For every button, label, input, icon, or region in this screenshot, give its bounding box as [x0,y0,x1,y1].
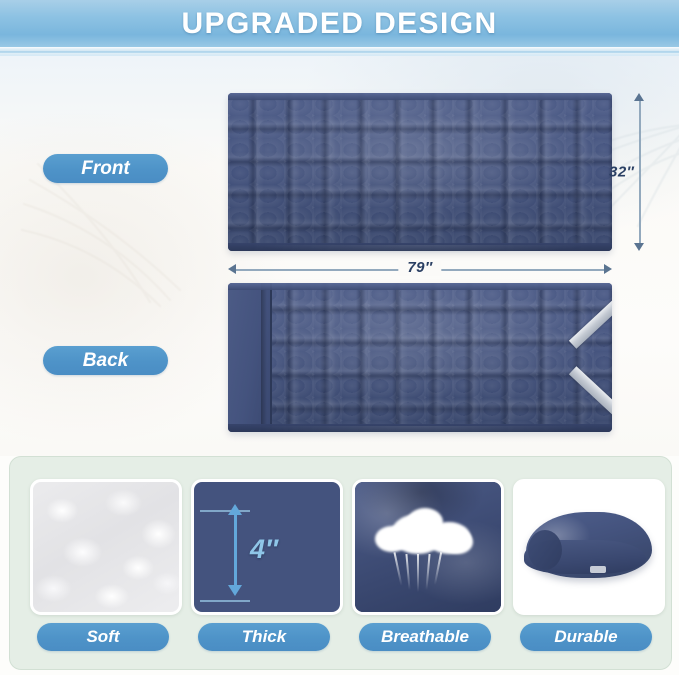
arrow-shaft [234,512,237,588]
label-front: Front [43,154,168,183]
feature-label-breathable: Breathable [359,623,491,651]
dimension-width: 32″ [633,93,647,251]
feature-label-thick: Thick [198,623,330,651]
arrow-left-icon [228,264,236,274]
feature-image-soft [30,479,182,615]
quilt-puff-highlights [228,93,612,251]
thickness-value: 4″ [250,534,278,565]
feature-image-thick: 4″ [191,479,343,615]
arrow-down-icon [634,243,644,251]
folded-mattress-fold [528,530,562,570]
mattress-back-shadow [228,426,612,438]
page-title: UPGRADED DESIGN [0,0,679,48]
fiber-fill-texture [33,482,179,612]
header-banner: UPGRADED DESIGN [0,0,679,56]
thickness-guide-bottom [200,600,250,602]
product-infographic: UPGRADED DESIGN Front 79″ 32″ Back [0,0,679,675]
arrow-down-icon [228,585,242,596]
feature-label-durable: Durable [520,623,652,651]
arrow-up-icon [634,93,644,101]
thickness-guide-top [200,510,250,512]
dimension-line [639,99,641,245]
cloud-icon [373,508,481,560]
feature-label-soft: Soft [37,623,169,651]
mattress-top-edge [228,283,612,290]
dimension-width-value: 32″ [609,160,634,185]
fabric-tag [590,566,606,573]
feature-image-durable [513,479,665,615]
label-back: Back [43,346,168,375]
side-flap-panel [228,283,272,432]
quilt-puff-highlights [228,283,612,432]
mattress-front-shadow [228,245,612,257]
airflow-line [417,554,419,592]
dimension-length-value: 79″ [398,259,441,276]
feature-image-breathable [352,479,504,615]
mattress-top-edge [228,93,612,100]
mattress-front-view [228,93,612,251]
mattress-back-view [228,283,612,432]
dimension-length: 79″ [228,263,612,277]
thickness-arrow-icon [228,504,242,596]
arrow-right-icon [604,264,612,274]
feature-panel: 4″ Soft Thick [9,456,672,670]
